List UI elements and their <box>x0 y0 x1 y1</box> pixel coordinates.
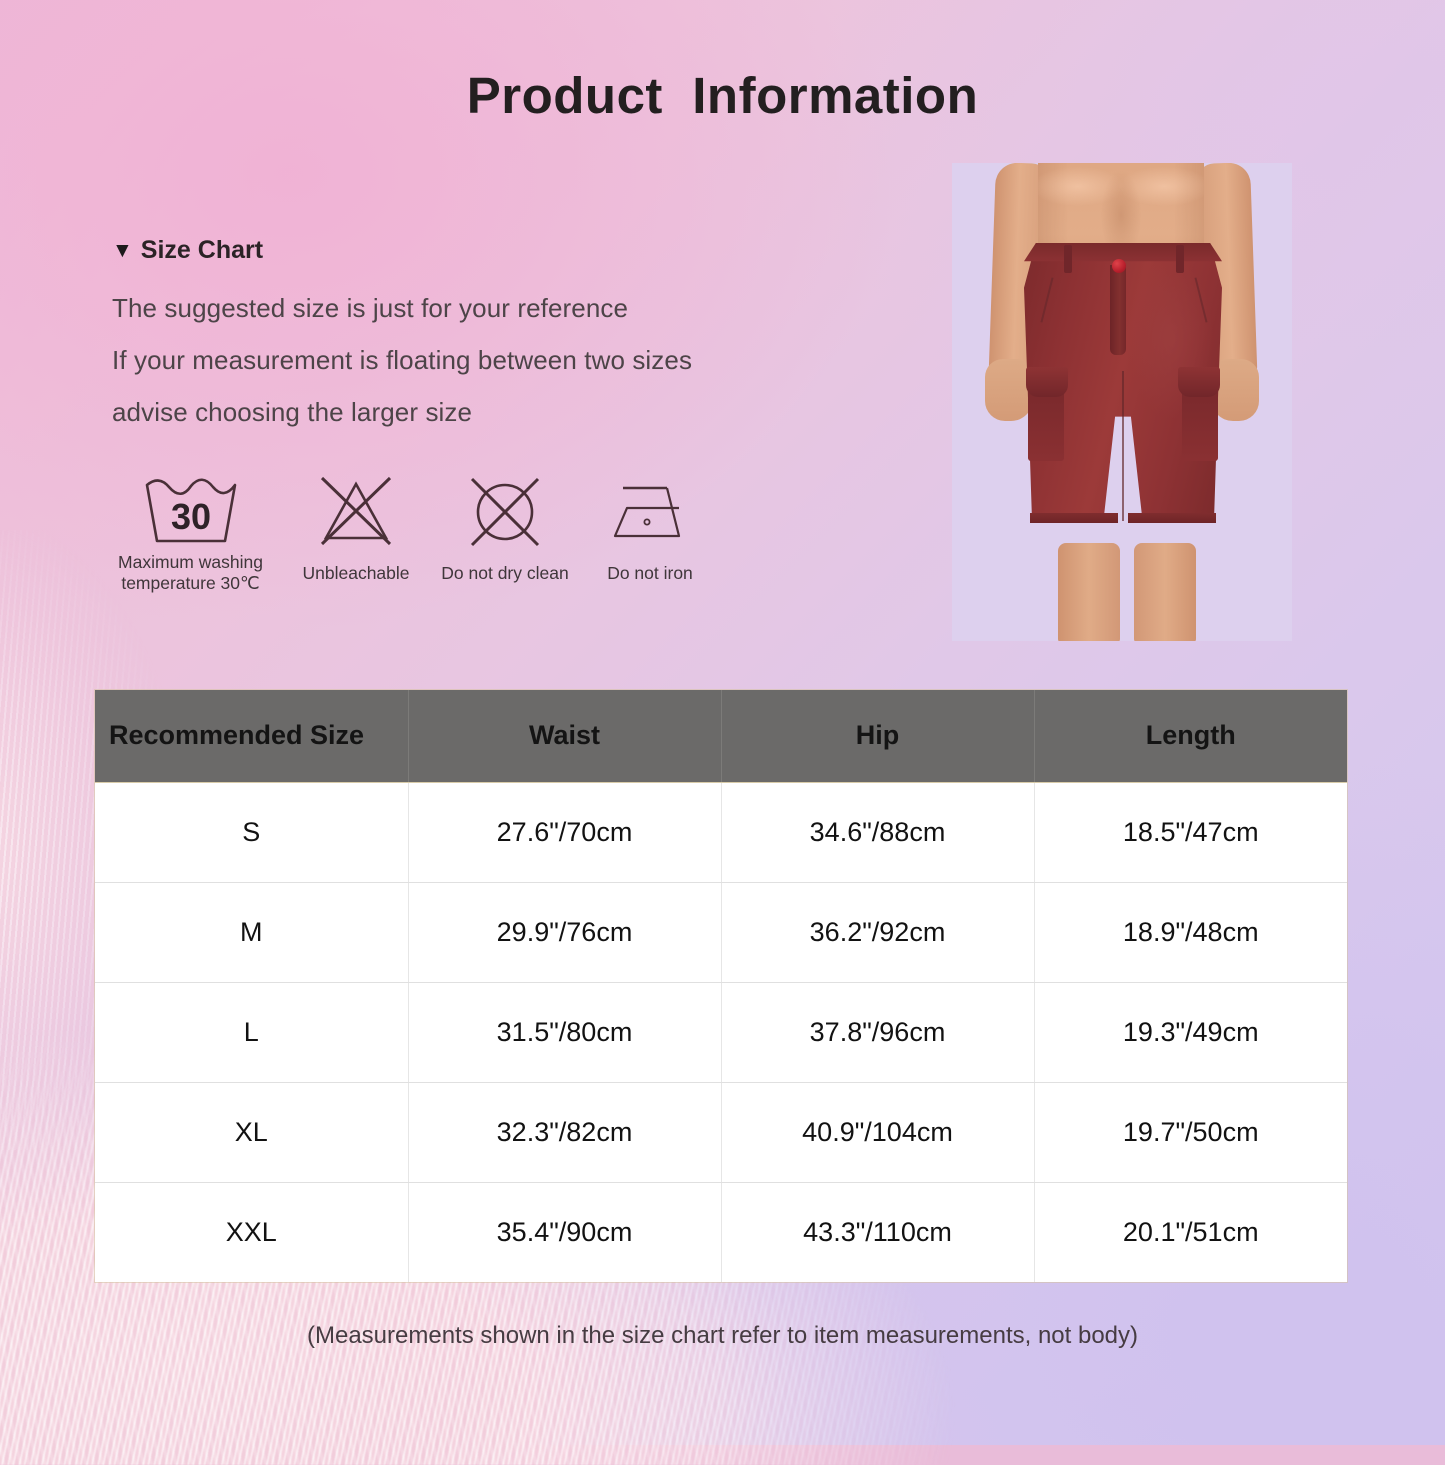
size-note-line-2: If your measurement is floating between … <box>112 345 692 376</box>
cell-size: L <box>95 982 408 1082</box>
care-item-bleach: Unbleachable <box>282 472 430 584</box>
shorts-button <box>1112 259 1126 273</box>
product-shorts <box>1024 243 1222 523</box>
cell-waist: 32.3"/82cm <box>408 1082 721 1182</box>
cell-waist: 35.4"/90cm <box>408 1182 721 1282</box>
cargo-flap-left <box>1026 367 1068 397</box>
column-header-hip: Hip <box>721 690 1034 782</box>
column-header-waist: Waist <box>408 690 721 782</box>
cell-waist: 31.5"/80cm <box>408 982 721 1082</box>
care-instructions-row: 30 Maximum washing temperature 30℃ Unble… <box>103 472 720 595</box>
column-header-length: Length <box>1034 690 1347 782</box>
belt-loop-right <box>1176 245 1184 273</box>
care-item-iron: Do not iron <box>580 472 720 584</box>
wash-tub-30-icon: 30 <box>139 472 243 548</box>
cargo-flap-right <box>1178 367 1220 397</box>
table-header-row: Recommended Size Waist Hip Length <box>95 690 1347 782</box>
care-label-bleach: Unbleachable <box>302 563 409 584</box>
no-dry-clean-icon <box>462 472 548 548</box>
cell-size: XXL <box>95 1182 408 1282</box>
cell-hip: 34.6"/88cm <box>721 782 1034 882</box>
cell-hip: 37.8"/96cm <box>721 982 1034 1082</box>
cell-hip: 36.2"/92cm <box>721 882 1034 982</box>
care-item-wash: 30 Maximum washing temperature 30℃ <box>103 472 278 595</box>
size-chart-section: ▼ Size Chart The suggested size is just … <box>112 236 692 428</box>
footer-note: (Measurements shown in the size chart re… <box>0 1322 1445 1350</box>
cell-size: S <box>95 782 408 882</box>
cell-size: M <box>95 882 408 982</box>
product-photo <box>952 163 1292 641</box>
care-label-iron: Do not iron <box>607 563 693 584</box>
cell-hip: 40.9"/104cm <box>721 1082 1034 1182</box>
model-leg-right <box>1134 543 1196 641</box>
cell-length: 19.7"/50cm <box>1034 1082 1347 1182</box>
model-leg-left <box>1058 543 1120 641</box>
no-iron-icon <box>607 472 693 548</box>
size-chart-heading: ▼ Size Chart <box>112 236 692 265</box>
no-bleach-icon <box>310 472 402 548</box>
care-label-wash: Maximum washing temperature 30℃ <box>118 552 263 595</box>
cell-length: 20.1"/51cm <box>1034 1182 1347 1282</box>
size-note-line-3: advise choosing the larger size <box>112 397 692 428</box>
table-row: S 27.6"/70cm 34.6"/88cm 18.5"/47cm <box>95 782 1347 882</box>
table-row: M 29.9"/76cm 36.2"/92cm 18.9"/48cm <box>95 882 1347 982</box>
size-note-line-1: The suggested size is just for your refe… <box>112 293 692 324</box>
size-chart-heading-label: Size Chart <box>141 236 263 265</box>
shorts-hem-right <box>1128 513 1216 523</box>
care-label-dryclean: Do not dry clean <box>441 563 568 584</box>
table-row: XL 32.3"/82cm 40.9"/104cm 19.7"/50cm <box>95 1082 1347 1182</box>
cell-waist: 27.6"/70cm <box>408 782 721 882</box>
shorts-hem-left <box>1030 513 1118 523</box>
cell-size: XL <box>95 1082 408 1182</box>
table-row: XXL 35.4"/90cm 43.3"/110cm 20.1"/51cm <box>95 1182 1347 1282</box>
triangle-down-icon: ▼ <box>112 240 133 261</box>
cell-hip: 43.3"/110cm <box>721 1182 1034 1282</box>
care-item-dryclean: Do not dry clean <box>430 472 580 584</box>
cell-waist: 29.9"/76cm <box>408 882 721 982</box>
shorts-inseam-seam <box>1122 371 1124 521</box>
cell-length: 18.9"/48cm <box>1034 882 1347 982</box>
size-chart-table: Recommended Size Waist Hip Length S 27.6… <box>95 690 1347 1282</box>
belt-loop-left <box>1064 245 1072 273</box>
cell-length: 19.3"/49cm <box>1034 982 1347 1082</box>
shorts-fly <box>1110 265 1126 355</box>
table-row: L 31.5"/80cm 37.8"/96cm 19.3"/49cm <box>95 982 1347 1082</box>
column-header-size: Recommended Size <box>95 690 408 782</box>
page-title: Product Information <box>0 66 1445 125</box>
cell-length: 18.5"/47cm <box>1034 782 1347 882</box>
svg-text:30: 30 <box>170 496 210 537</box>
